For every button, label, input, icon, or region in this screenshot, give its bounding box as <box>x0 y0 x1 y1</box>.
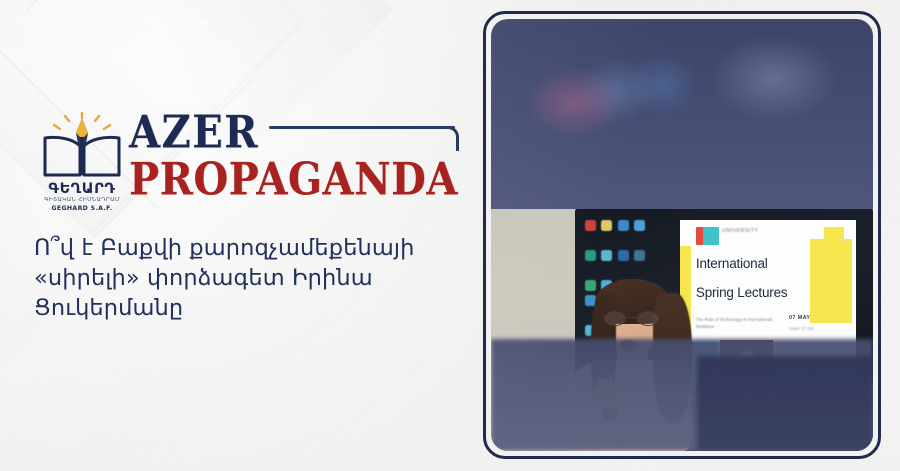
eyeglasses-icon <box>604 311 659 327</box>
secondary-logo-icon: ADA <box>836 226 852 246</box>
university-logo-icon <box>696 227 719 244</box>
geghard-logo: ԳԵՂԱՐԴ ԳԻՏԱԿԱՆ ՀԻՄՆԱԴՐԱՄ GEGHARD S.A.F. <box>33 112 131 210</box>
title-primary-row: AZER <box>129 110 459 156</box>
left-content-column: ԳԵՂԱՐԴ ԳԻՏԱԿԱՆ ՀԻՄՆԱԴՐԱՄ GEGHARD S.A.F. … <box>0 0 470 471</box>
logo-mark-label: ADA <box>840 238 848 242</box>
app-icon <box>585 220 596 231</box>
photo-image: UNIVERSITY International Spring Lectures… <box>491 19 873 451</box>
slide-decor-block <box>810 239 852 323</box>
slide-university-label: UNIVERSITY <box>722 228 758 234</box>
slide-time: Start 17:00 <box>789 326 814 331</box>
lens-bridge <box>626 317 637 318</box>
slide-heading-line1: International <box>696 256 768 271</box>
title-rule-decoration <box>269 120 459 146</box>
poster-canvas: ԳԵՂԱՐԴ ԳԻՏԱԿԱՆ ՀԻՄՆԱԴՐԱՄ GEGHARD S.A.F. … <box>0 0 900 471</box>
lens-right <box>637 311 659 327</box>
lens-left <box>604 311 626 327</box>
photo-frame: UNIVERSITY International Spring Lectures… <box>483 11 881 459</box>
series-title: AZER PROPAGANDA <box>129 110 459 200</box>
logo-wordmark: ԳԵՂԱՐԴ ԳԻՏԱԿԱՆ ՀԻՄՆԱԴՐԱՄ GEGHARD S.A.F. <box>33 182 131 212</box>
app-icon <box>601 250 612 261</box>
app-icon <box>618 220 629 231</box>
logo-name-latin: GEGHARD S.A.F. <box>33 206 131 212</box>
photo-bottom-dark-block <box>697 356 873 451</box>
app-icon <box>618 250 629 261</box>
app-icon <box>585 250 596 261</box>
slide-heading-line2: Spring Lectures <box>696 285 788 300</box>
app-icon <box>634 220 645 231</box>
title-word-propaganda: PROPAGANDA <box>129 158 459 203</box>
open-book-with-pen-icon <box>33 112 131 186</box>
app-icon <box>601 220 612 231</box>
slide-subtitle: The Role of Technology in International … <box>696 316 773 331</box>
page-title: Ո՞վ է Բաքվի քարոզչամեքենայի «սիրելի» փոր… <box>34 234 454 324</box>
photo-top-blur-region <box>491 19 873 218</box>
logo-name-armenian: ԳԵՂԱՐԴ <box>33 182 131 197</box>
slide-date: 07 MAY <box>789 315 810 321</box>
app-icon <box>634 250 645 261</box>
title-word-azer: AZER <box>129 111 259 156</box>
logo-subtitle-armenian: ԳԻՏԱԿԱՆ ՀԻՄՆԱԴՐԱՄ <box>33 198 131 204</box>
